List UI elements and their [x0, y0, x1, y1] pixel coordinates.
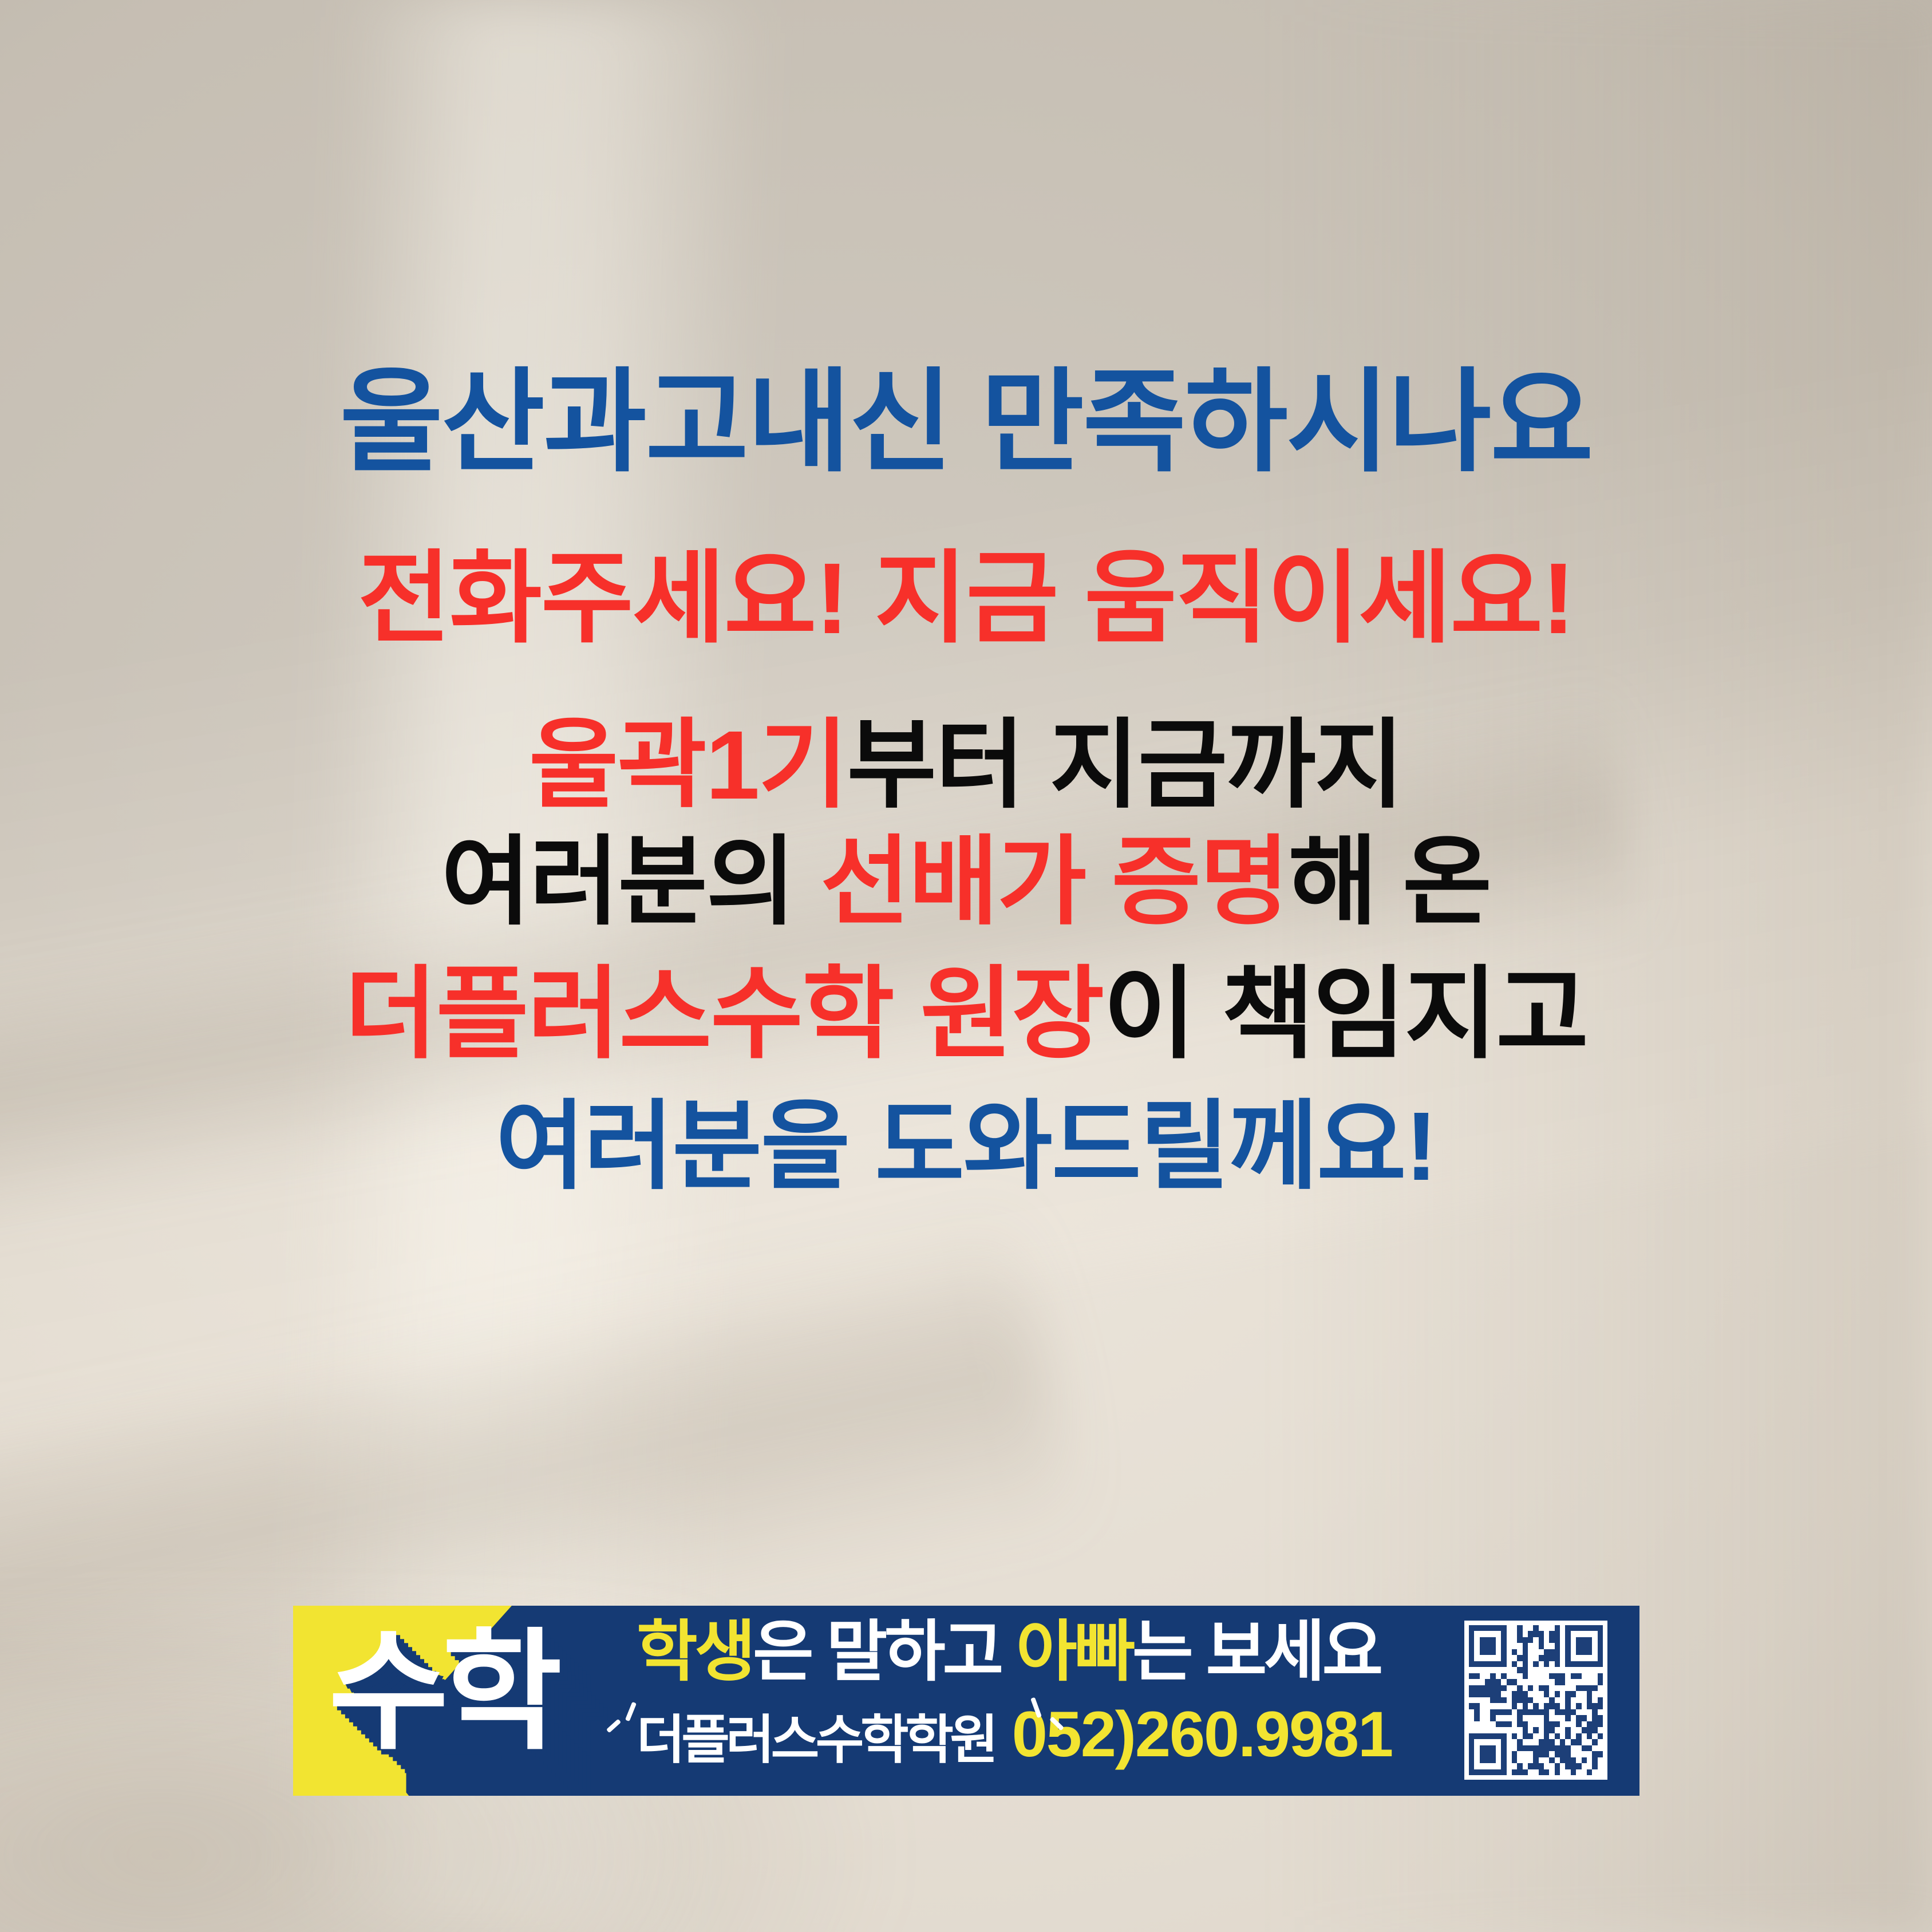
banner-logo-text: 수학 [329, 1613, 598, 1772]
banner-tagline: 학생은 말하고 아빠는 보세요 [637, 1616, 1507, 1688]
banner-tagline-mid: 은 말하고 [753, 1614, 1016, 1689]
message-block: 울산과고내신 만족하시나요 전화주세요! 지금 움직이세요! 울곽1기부터 지금… [0, 366, 1932, 1195]
banner-tagline-student: 학생 [637, 1614, 753, 1689]
banner-tagline-dad: 아빠 [1016, 1614, 1132, 1689]
body-line-2-prefix: 여러분의 [441, 828, 821, 937]
body-line-1: 울곽1기부터 지금까지 [0, 717, 1932, 814]
banner-phone-number[interactable]: 052)260.9981 [1012, 1702, 1392, 1767]
banner-logo: 수학 [329, 1613, 598, 1784]
academy-ad-banner[interactable]: 수학 학생은 말하고 아빠는 보세요 더플러스수학학원 052)260.9981 [293, 1606, 1639, 1796]
banner-tagline-end: 는 보세요 [1132, 1614, 1380, 1689]
body-line-1-highlight: 울곽1기 [529, 711, 847, 820]
banner-contact-row: 더플러스수학학원 052)260.9981 [637, 1702, 1507, 1767]
banner-academy-name: 더플러스수학학원 [637, 1714, 995, 1767]
body-line-4: 여러분을 도와드릴께요! [0, 1098, 1932, 1195]
headline-line-2: 전화주세요! 지금 움직이세요! [0, 548, 1932, 649]
body-line-1-rest: 부터 지금까지 [847, 711, 1403, 820]
qr-code-matrix [1469, 1625, 1603, 1775]
body-line-3-highlight: 더플러스수학 원장 [345, 958, 1103, 1070]
body-line-2-suffix: 해 온 [1288, 828, 1491, 937]
body-line-3: 더플러스수학 원장이 책임지고 [0, 964, 1932, 1065]
body-line-3-rest: 이 책임지고 [1103, 958, 1587, 1070]
body-line-2-highlight: 선배가 증명 [820, 828, 1288, 937]
body-line-2: 여러분의 선배가 증명해 온 [0, 833, 1932, 931]
banner-copy: 학생은 말하고 아빠는 보세요 더플러스수학학원 052)260.9981 [637, 1616, 1507, 1767]
qr-code-icon[interactable] [1464, 1621, 1607, 1780]
headline-line-1: 울산과고내신 만족하시나요 [0, 366, 1932, 479]
poster-canvas: 울산과고내신 만족하시나요 전화주세요! 지금 움직이세요! 울곽1기부터 지금… [0, 0, 1932, 1932]
